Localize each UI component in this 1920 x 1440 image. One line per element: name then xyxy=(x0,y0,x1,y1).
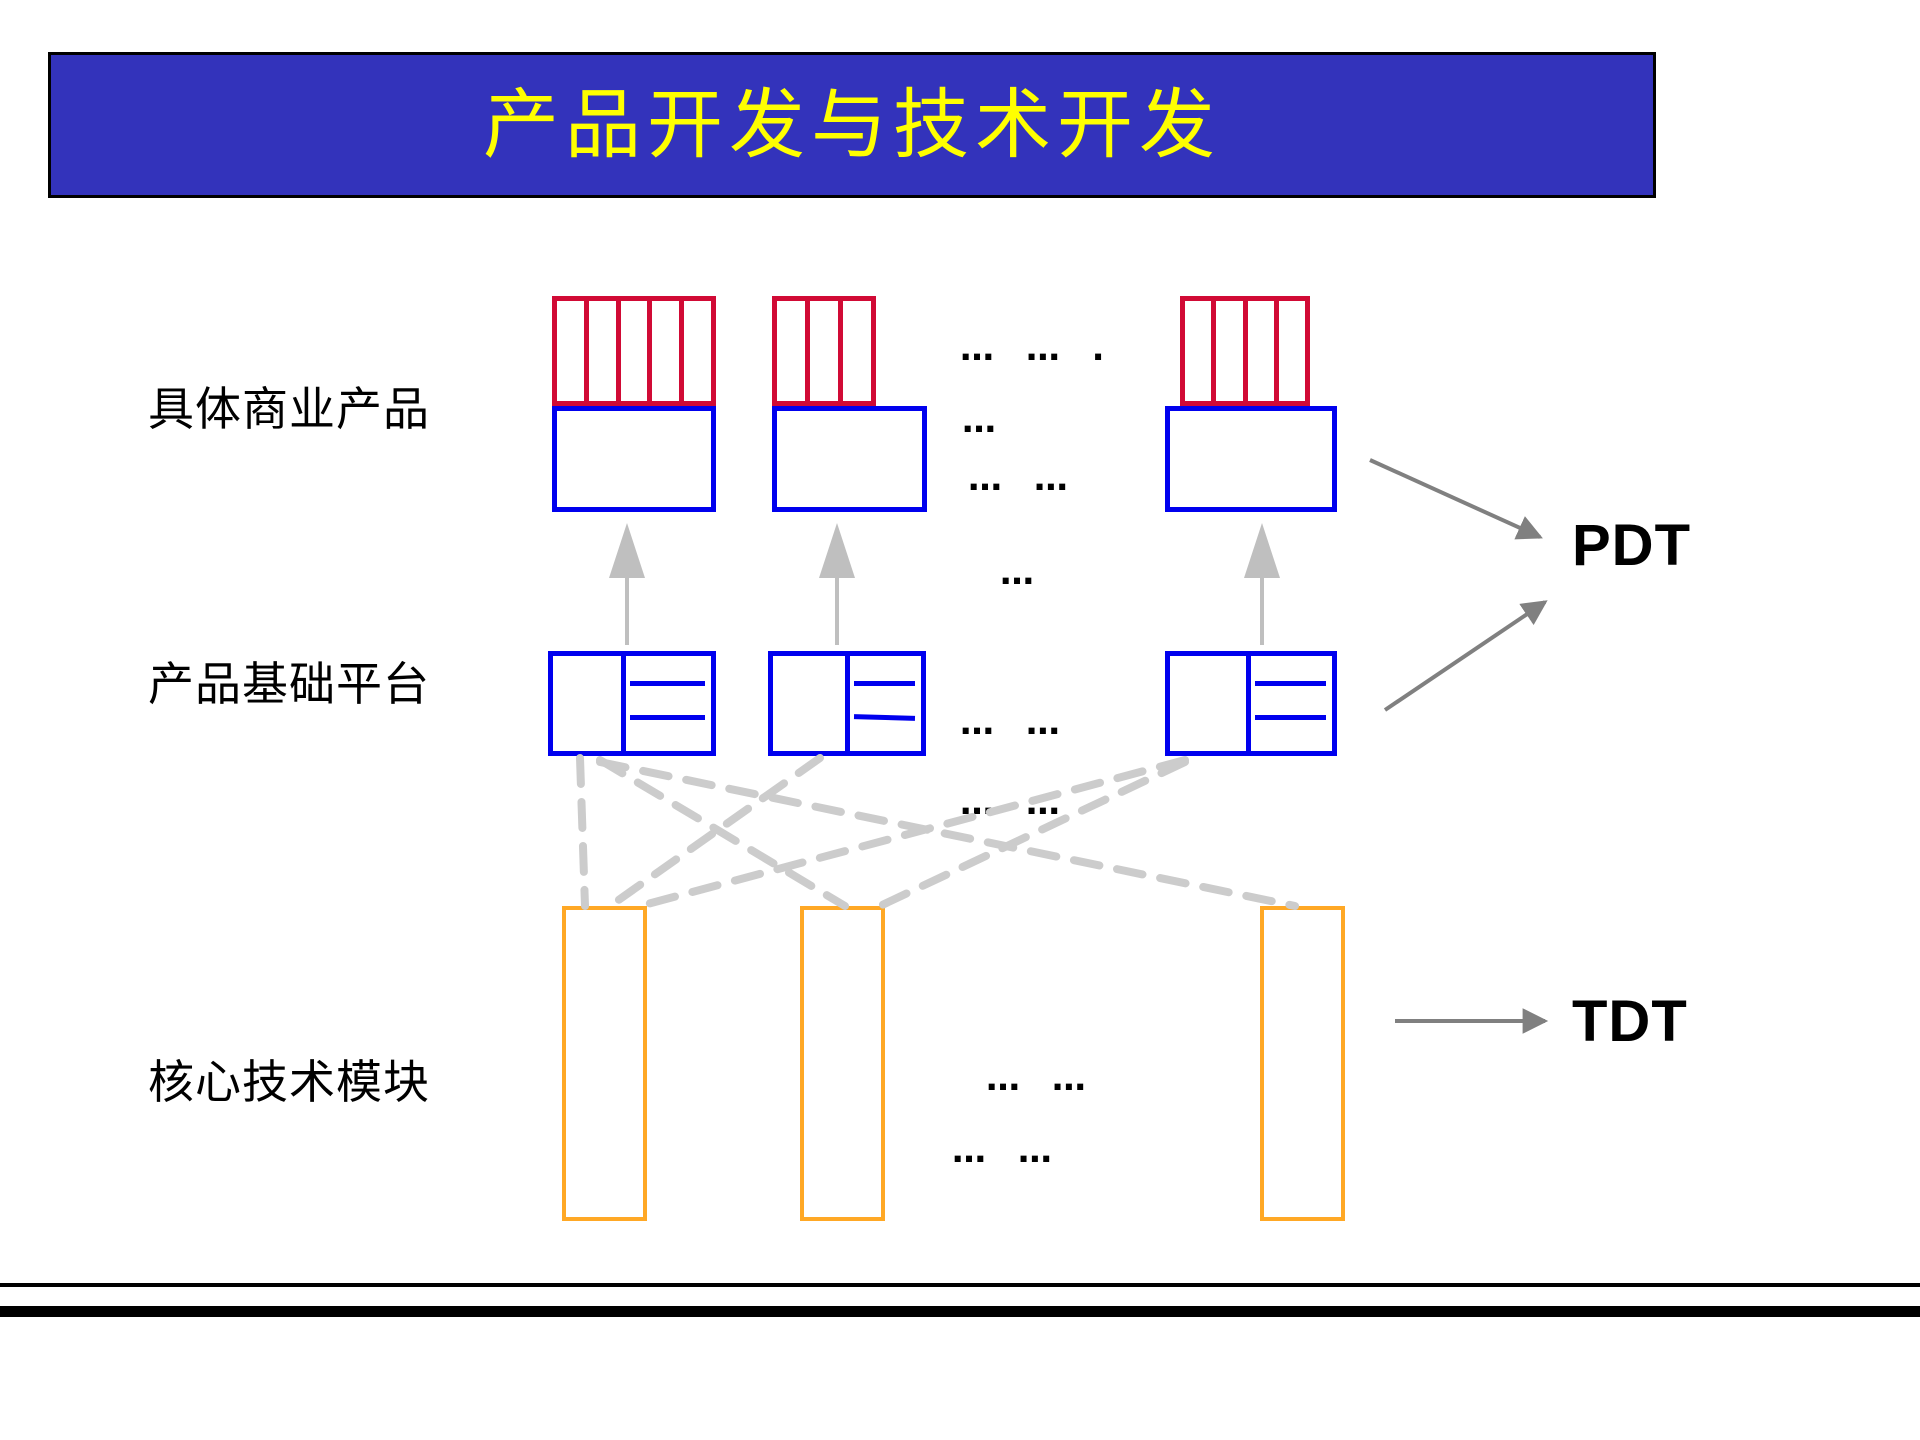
platform-box-1 xyxy=(548,651,716,756)
product-stripes-1 xyxy=(552,296,716,406)
dashed-link xyxy=(580,758,585,906)
ellipsis-tech-lower: … … xyxy=(952,1134,1062,1168)
product-box-1 xyxy=(552,406,716,512)
pdt-label: PDT xyxy=(1572,512,1691,579)
platform-left-cell xyxy=(1170,656,1251,751)
product-stripes-2 xyxy=(772,296,876,406)
product-stripe xyxy=(621,301,653,401)
platform-divider-line xyxy=(854,681,915,686)
platform-right-cell xyxy=(850,656,921,751)
technology-to-platform-links xyxy=(580,758,1295,906)
upward-arrow-2 xyxy=(819,523,855,645)
ellipsis-products-bottom: … … xyxy=(968,462,1078,496)
dashed-link xyxy=(640,760,1185,906)
pdt-arrow-lower xyxy=(1385,602,1545,710)
page-title: 产品开发与技术开发 xyxy=(483,87,1221,163)
product-stripe xyxy=(1248,301,1279,401)
platform-right-cell xyxy=(626,656,711,751)
platform-divider-line xyxy=(630,715,705,720)
ellipsis-products-top: … … . xyxy=(960,332,1115,366)
tech-module-bar-1 xyxy=(562,906,647,1221)
ellipsis-link-row: … … xyxy=(960,786,1070,820)
row-label-products: 具体商业产品 xyxy=(148,373,430,439)
platform-left-cell xyxy=(553,656,626,751)
footer-rule-thin xyxy=(0,1283,1920,1287)
platform-box-3 xyxy=(1165,651,1337,756)
product-stripe xyxy=(1185,301,1216,401)
product-box-2 xyxy=(772,406,927,512)
ellipsis-tech-upper: … … xyxy=(986,1062,1096,1096)
platform-divider-line xyxy=(1255,715,1326,720)
platform-to-product-arrows xyxy=(609,523,1280,645)
tech-module-bar-3 xyxy=(1260,906,1345,1221)
platform-left-cell xyxy=(773,656,850,751)
product-stripe xyxy=(1279,301,1305,401)
upward-arrow-1 xyxy=(609,523,645,645)
title-banner: 产品开发与技术开发 xyxy=(48,52,1656,198)
product-box-3 xyxy=(1165,406,1337,512)
product-stripe xyxy=(810,301,843,401)
ellipsis-products-mid: … xyxy=(962,404,1006,438)
platform-divider-line xyxy=(630,681,705,686)
dashed-link xyxy=(610,758,820,906)
platform-divider-line xyxy=(1255,681,1326,686)
platform-right-cell xyxy=(1251,656,1332,751)
product-stripe xyxy=(684,301,711,401)
tech-module-bar-2 xyxy=(800,906,885,1221)
product-stripe xyxy=(843,301,871,401)
dashed-link xyxy=(600,760,845,906)
product-stripes-3 xyxy=(1180,296,1310,406)
upward-arrow-3 xyxy=(1244,523,1280,645)
product-stripe xyxy=(589,301,621,401)
slide-canvas: 产品开发与技术开发 具体商业产品 产品基础平台 核心技术模块 xyxy=(0,0,1920,1440)
pdt-arrows xyxy=(1370,460,1545,710)
product-stripe xyxy=(1216,301,1247,401)
product-stripe xyxy=(777,301,810,401)
pdt-arrow-upper xyxy=(1370,460,1540,537)
dashed-link xyxy=(600,762,1295,906)
product-stripe xyxy=(557,301,589,401)
row-label-platform: 产品基础平台 xyxy=(148,648,430,714)
platform-divider-line xyxy=(854,714,915,721)
ellipsis-platform-right: … … xyxy=(960,706,1070,740)
footer-rule-thick xyxy=(0,1306,1920,1317)
row-label-technology: 核心技术模块 xyxy=(148,1046,430,1112)
product-stripe xyxy=(652,301,684,401)
platform-box-2 xyxy=(768,651,926,756)
ellipsis-arrow-row: … xyxy=(1000,556,1044,590)
tdt-label: TDT xyxy=(1572,988,1688,1055)
